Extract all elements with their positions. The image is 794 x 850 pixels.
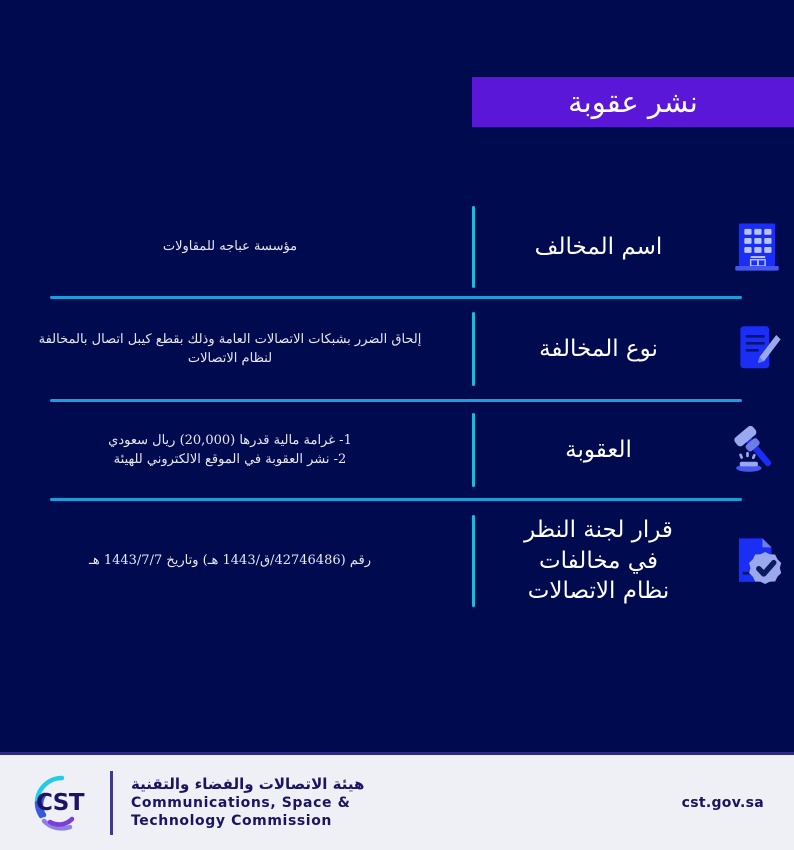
org-name-arabic: هيئة الاتصالات والفضاء والتقنية [131,775,364,793]
row-label-decision: قرار لجنة النظر في مخالفات نظام الاتصالا… [475,515,726,606]
row-label-side: اسم المخالف [460,206,794,288]
row-label-violation-type: نوع المخالفة [475,334,726,364]
document-pen-icon [726,320,788,378]
cst-logo-icon: CST [28,771,92,835]
website-url[interactable]: cst.gov.sa [682,795,764,811]
row-value-penalty: 1- غرامة مالية قدرها (20,000) ريال سعودي… [0,402,460,498]
document-verified-icon [726,531,788,591]
row-label-line: في مخالفات [479,546,718,576]
row-value-violation-type: إلحاق الضرر بشبكات الاتصالات العامة وذلك… [0,299,460,399]
cst-logo-text: CST [36,790,84,816]
footer-divider [110,771,113,835]
table-row: إلحاق الضرر بشبكات الاتصالات العامة وذلك… [0,299,794,399]
row-label-side: قرار لجنة النظر في مخالفات نظام الاتصالا… [460,515,794,607]
details-list: مؤسسة عباجه للمقاولات اسم المخالف [0,198,794,621]
table-row: مؤسسة عباجه للمقاولات اسم المخالف [0,198,794,296]
row-label-line: قرار لجنة النظر [479,515,718,545]
table-row: 1- غرامة مالية قدرها (20,000) ريال سعودي… [0,402,794,498]
org-name-block: هيئة الاتصالات والفضاء والتقنية Communic… [131,775,364,830]
row-label-violator-name: اسم المخالف [475,232,726,262]
row-label-line: نظام الاتصالات [479,576,718,606]
row-value-decision: رقم (42746486/ق/1443 هـ) وتاريخ 1443/7/7… [0,501,460,621]
row-label-side: نوع المخالفة [460,312,794,386]
row-value-line: لنظام الاتصالات [39,349,422,369]
banner-title: نشر عقوبة [568,85,698,119]
org-name-english: Communications, Space & Technology Commi… [131,795,364,830]
row-label-side: العقوبة [460,413,794,487]
row-value-line: رقم (42746486/ق/1443 هـ) وتاريخ 1443/7/7… [89,551,371,571]
row-value-line: 2- نشر العقوبة في الموقع الالكتروني للهي… [108,450,352,470]
row-value-line: مؤسسة عباجه للمقاولات [163,237,297,257]
row-value-line: إلحاق الضرر بشبكات الاتصالات العامة وذلك… [39,330,422,350]
org-name-english-line2: Technology Commission [131,813,364,831]
row-label-penalty: العقوبة [475,435,726,465]
table-row: رقم (42746486/ق/1443 هـ) وتاريخ 1443/7/7… [0,501,794,621]
header-banner: نشر عقوبة [472,77,794,127]
gavel-icon [726,421,788,479]
row-value-line: 1- غرامة مالية قدرها (20,000) ريال سعودي [108,431,352,451]
penalty-publication-card: نشر عقوبة مؤسسة عباجه للمقاولات اسم المخ… [0,0,794,850]
footer: CST هيئة الاتصالات والفضاء والتقنية Comm… [0,752,794,850]
footer-brand: CST هيئة الاتصالات والفضاء والتقنية Comm… [28,755,364,850]
row-value-violator-name: مؤسسة عباجه للمقاولات [0,198,460,296]
building-icon [726,218,788,276]
org-name-english-line1: Communications, Space & [131,795,364,813]
